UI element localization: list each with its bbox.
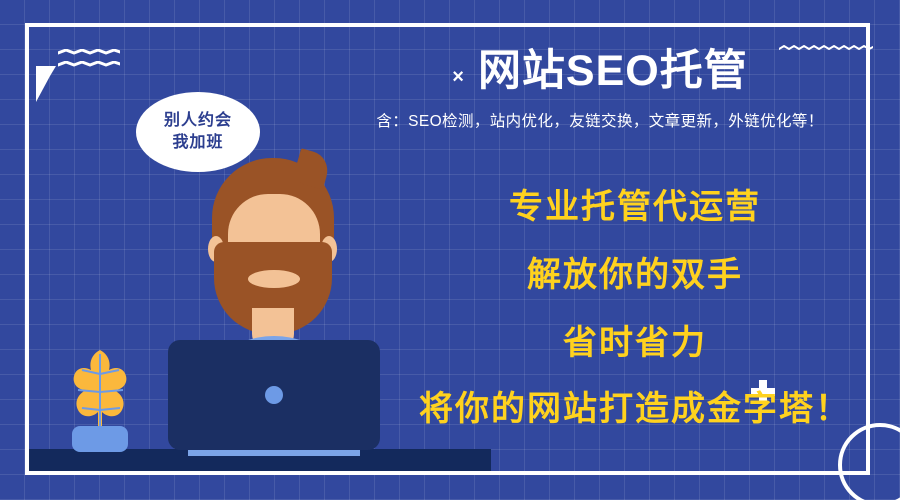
- laptop-logo-icon: [265, 386, 283, 404]
- wave-line-icon: [58, 49, 120, 55]
- headline-block: × 网站SEO托管 含：SEO检测，站内优化，友链交换，文章更新，外链优化等！: [300, 48, 900, 131]
- title-row: × 网站SEO托管: [300, 48, 900, 95]
- speech-bubble-line: 我加班: [172, 132, 223, 154]
- laptop-shape: [168, 340, 380, 450]
- slogan-line: 专业托管代运营: [390, 190, 880, 224]
- man-at-laptop-illustration: [150, 150, 410, 470]
- leaf-icon: [64, 348, 138, 434]
- potted-plant-illustration: [58, 348, 144, 458]
- speech-bubble-line: 别人约会: [164, 110, 232, 132]
- wave-line-icon: [58, 61, 120, 67]
- slogan-line: 省时省力: [390, 326, 880, 360]
- flower-pot-shape: [72, 426, 128, 452]
- mouth-shape: [248, 270, 300, 288]
- slogan-block: 专业托管代运营 解放你的双手 省时省力 将你的网站打造成金字塔！: [390, 190, 880, 426]
- slogan-line: 解放你的双手: [390, 258, 880, 292]
- speech-bubble: 别人约会 我加班: [136, 92, 260, 172]
- x-mark-icon: ×: [452, 57, 464, 87]
- seo-hosting-banner: × 网站SEO托管 含：SEO检测，站内优化，友链交换，文章更新，外链优化等！ …: [0, 0, 900, 500]
- page-title: 网站SEO托管: [478, 48, 748, 95]
- speech-bubble-tail: [36, 66, 56, 102]
- slogan-line: 将你的网站打造成金字塔！: [390, 392, 880, 426]
- page-subtitle: 含：SEO检测，站内优化，友链交换，文章更新，外链优化等！: [300, 109, 900, 131]
